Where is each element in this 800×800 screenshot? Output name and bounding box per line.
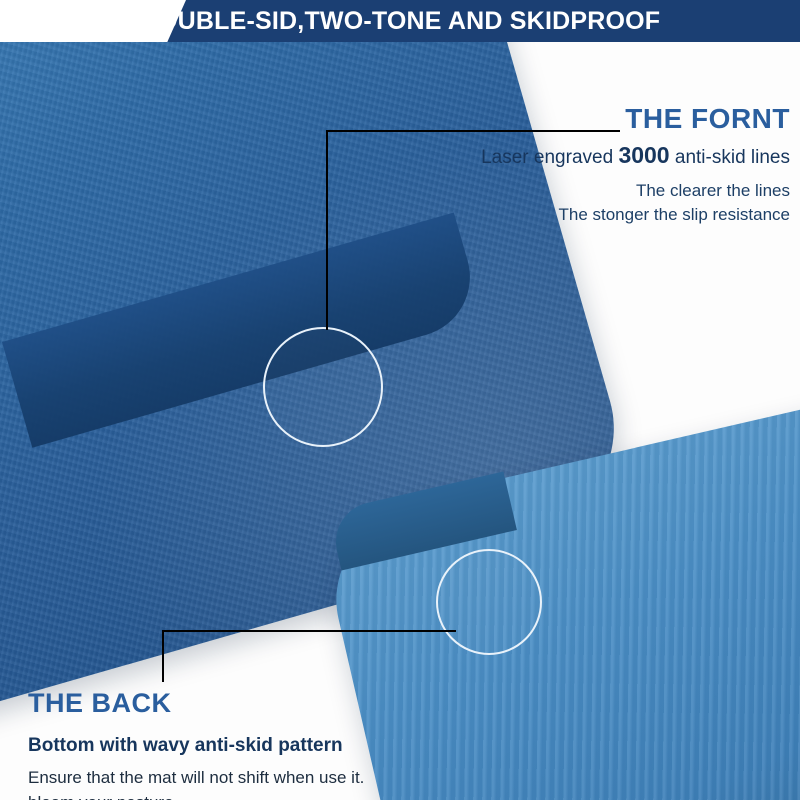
back-callout-detail-1: Ensure that the mat will not shift when … [28,765,588,790]
front-callout-headline: Laser engraved 3000 anti-skid lines [360,142,790,171]
front-callout-detail-2: The stonger the slip resistance [360,203,790,227]
back-callout-detail-2: bloom your posture [28,790,588,800]
front-callout-text: THE FORNT Laser engraved 3000 anti-skid … [360,102,790,227]
banner-title: DOUBLE-SID,TWO-TONE AND SKIDPROOF [0,0,800,42]
product-infographic: DOUBLE-SID,TWO-TONE AND SKIDPROOF THE FO… [0,0,800,800]
front-headline-prefix: Laser engraved [481,147,618,168]
header-banner: DOUBLE-SID,TWO-TONE AND SKIDPROOF [0,0,800,42]
back-callout-text: THE BACK Bottom with wavy anti-skid patt… [28,687,588,800]
front-callout-leader-vertical [326,130,328,330]
front-callout-title: THE FORNT [360,102,790,136]
front-headline-number: 3000 [618,142,669,168]
back-callout-leader-vertical [162,630,164,682]
back-callout-headline: Bottom with wavy anti-skid pattern [28,733,588,759]
back-callout-leader-horizontal [162,630,456,632]
product-photo: THE FORNT Laser engraved 3000 anti-skid … [0,42,800,800]
front-surface-zoom-circle-icon [263,327,383,447]
front-headline-suffix: anti-skid lines [670,147,790,168]
front-callout-detail-1: The clearer the lines [360,179,790,203]
back-callout-title: THE BACK [28,687,588,719]
back-surface-zoom-circle-icon [436,549,542,655]
